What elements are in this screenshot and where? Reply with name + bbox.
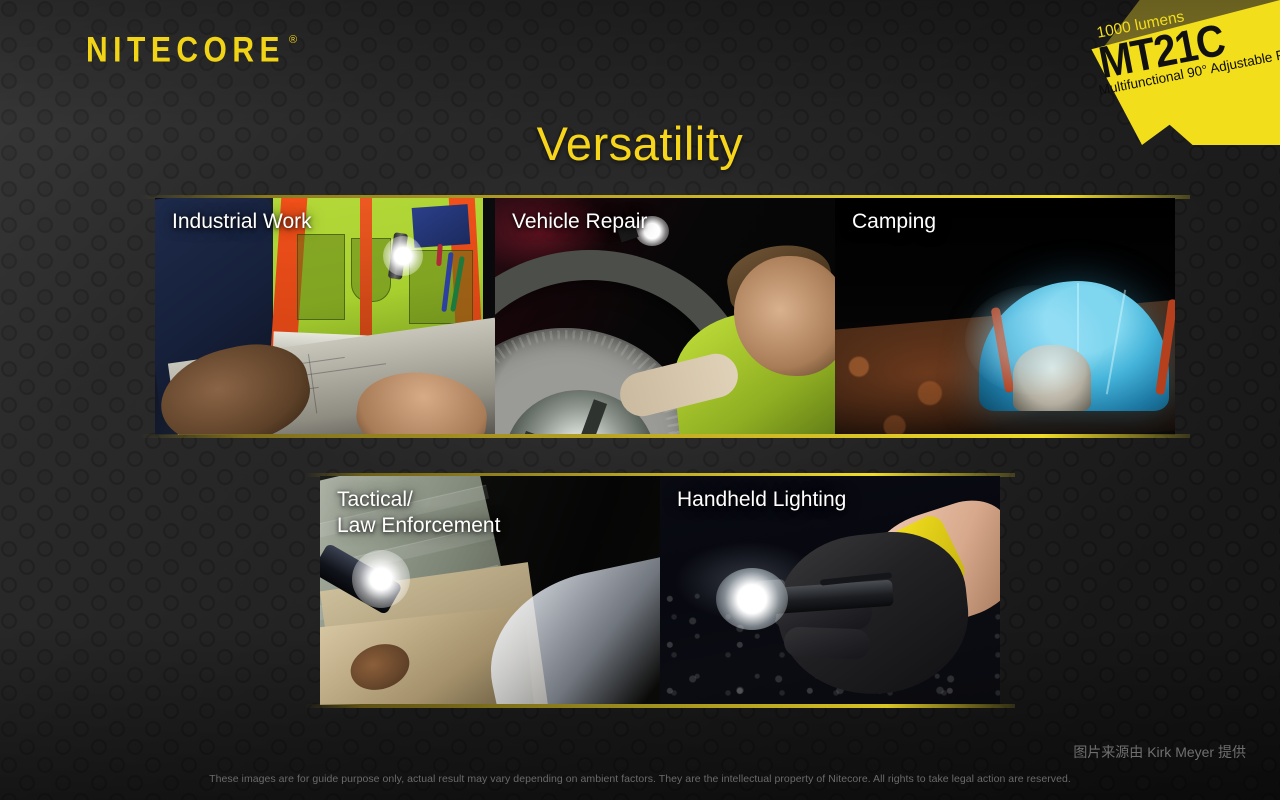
photo-handheld-lighting: Handheld Lighting: [660, 476, 1000, 705]
photo-tactical-law-enforcement: Tactical/ Law Enforcement: [320, 476, 660, 705]
logo-wordmark: NITECORE: [86, 33, 285, 68]
product-badge: 1000 lumens MT21C Multifunctional 90° Ad…: [1050, 0, 1280, 145]
photo-label: Industrial Work: [172, 209, 312, 235]
vest-patch: [412, 204, 471, 248]
legal-disclaimer: These images are for guide purpose only,…: [0, 773, 1280, 785]
photo-camping: Camping: [835, 198, 1175, 435]
photo-label: Handheld Lighting: [677, 487, 846, 513]
presentation-slide: NITECORE ® 1000 lumens MT21C Multifuncti…: [0, 0, 1280, 800]
photo-vehicle-repair: Vehicle Repair: [495, 198, 835, 435]
photo-label: Tactical/ Law Enforcement: [337, 487, 500, 538]
photo-label: Camping: [852, 209, 936, 235]
photo-industrial-work: Industrial Work: [155, 198, 495, 435]
photo-row-1: Industrial Work Vehicle Repair: [155, 198, 1175, 435]
registered-trademark-icon: ®: [289, 34, 297, 46]
image-credit: 图片来源由 Kirk Meyer 提供: [1073, 742, 1246, 762]
tent-doorway: [1013, 345, 1091, 411]
flashlight-head: [755, 579, 787, 615]
vest-pocket: [297, 234, 345, 320]
nitecore-logo: NITECORE ®: [86, 33, 297, 63]
photo-row-2: Tactical/ Law Enforcement Handheld Light…: [320, 476, 1000, 705]
glove-finger: [784, 627, 871, 660]
photo-label: Vehicle Repair: [512, 209, 647, 235]
